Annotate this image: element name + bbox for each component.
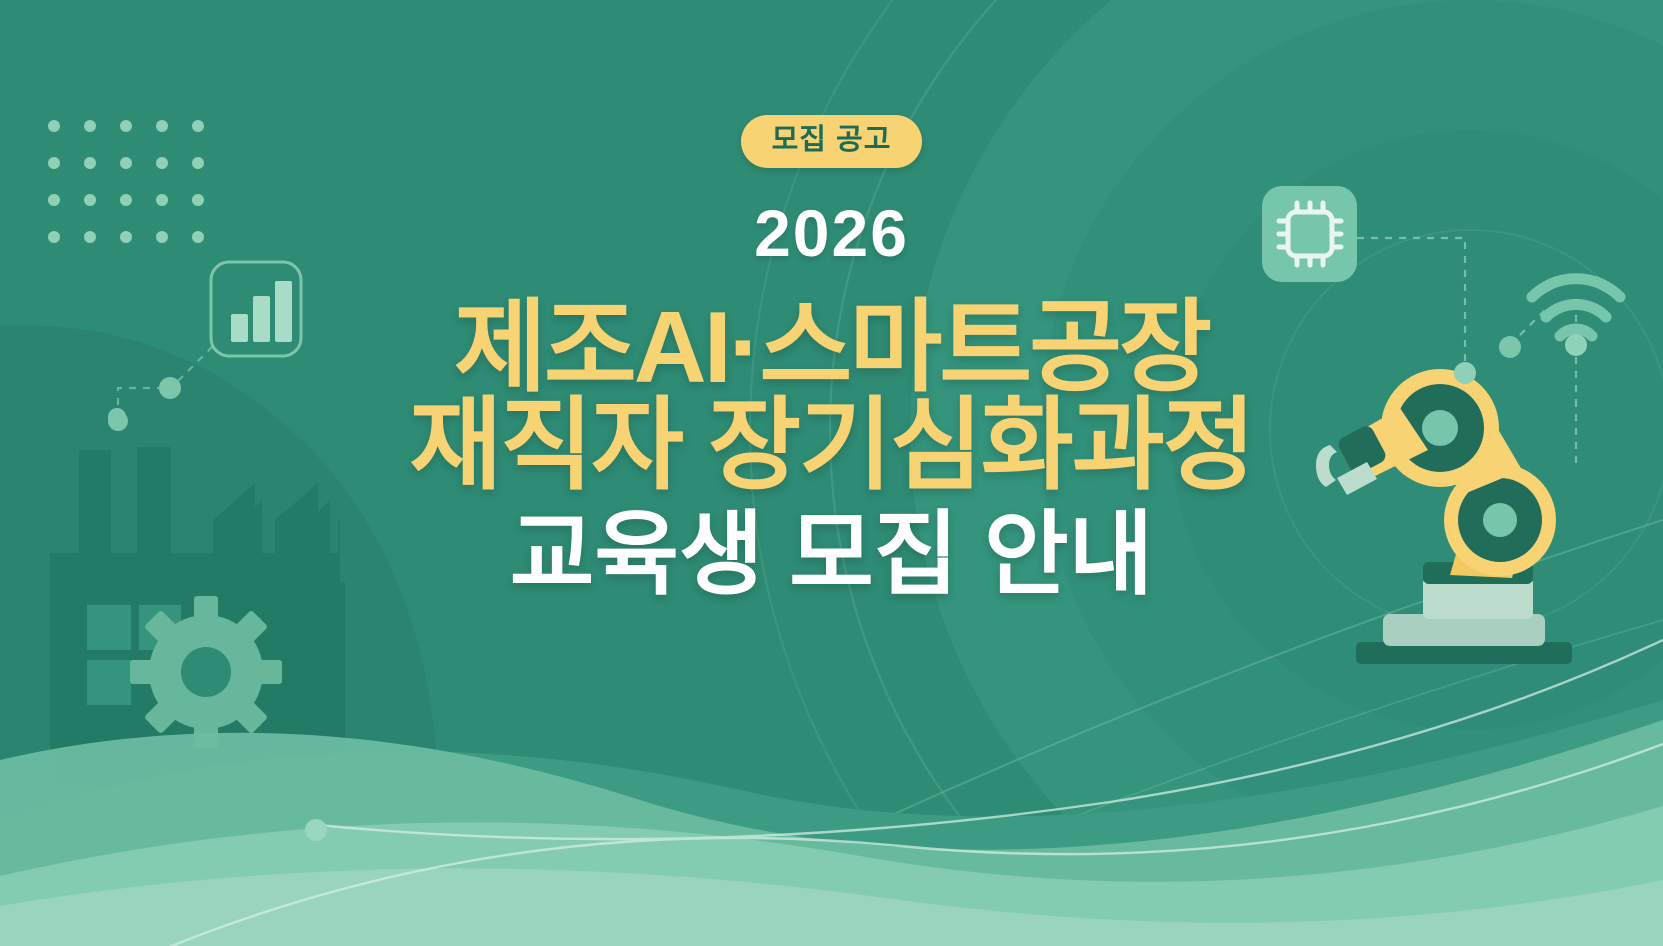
node-dot bbox=[305, 819, 327, 841]
year-label: 2026 bbox=[754, 200, 909, 266]
headline-line-1: 제조AI·스마트공장 bbox=[454, 296, 1209, 400]
headline-line-2: 재직자 장기심화과정 bbox=[409, 394, 1253, 498]
recruitment-badge: 모집 공고 bbox=[741, 115, 923, 168]
promotional-banner: 모집 공고 2026 제조AI·스마트공장 재직자 장기심화과정 교육생 모집 … bbox=[0, 0, 1663, 946]
headline-line-3: 교육생 모집 안내 bbox=[510, 508, 1154, 603]
